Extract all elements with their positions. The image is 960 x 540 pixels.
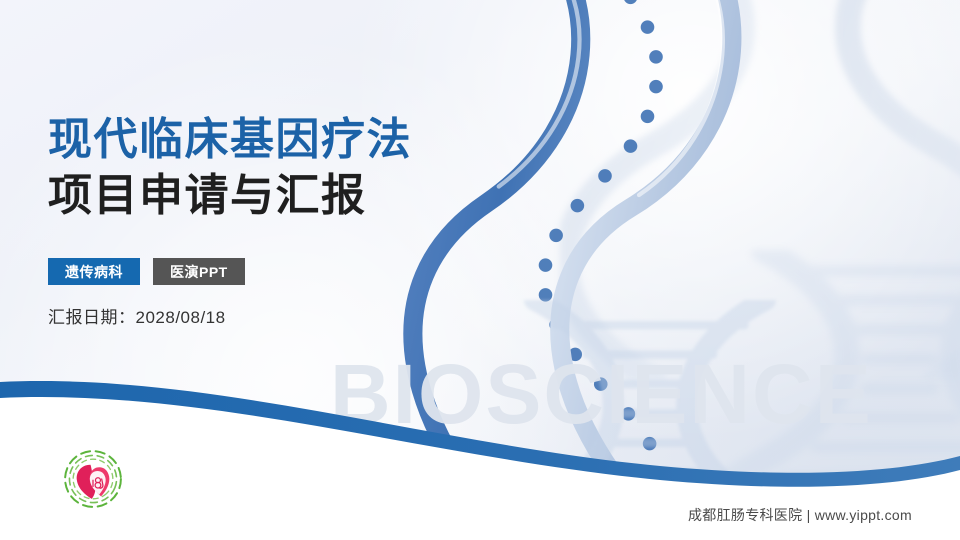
tag-brand[interactable]: 医演PPT <box>153 258 245 285</box>
footer-credit: 成都肛肠专科医院 | www.yippt.com <box>688 505 912 525</box>
report-date: 汇报日期：2028/08/18 <box>48 303 226 328</box>
tag-group: 遗传病科 医演PPT <box>48 258 245 285</box>
page-title: 现代临床基因疗法 项目申请与汇报 <box>48 112 412 224</box>
title-line-secondary: 项目申请与汇报 <box>48 168 412 224</box>
title-slide: BIOSCIENCE 现代临床基因疗法 项目申请与汇报 遗传病科 医演PPT 汇… <box>0 0 960 540</box>
tag-department[interactable]: 遗传病科 <box>48 258 140 285</box>
hospital-logo <box>62 448 124 510</box>
title-line-primary: 现代临床基因疗法 <box>48 112 412 168</box>
